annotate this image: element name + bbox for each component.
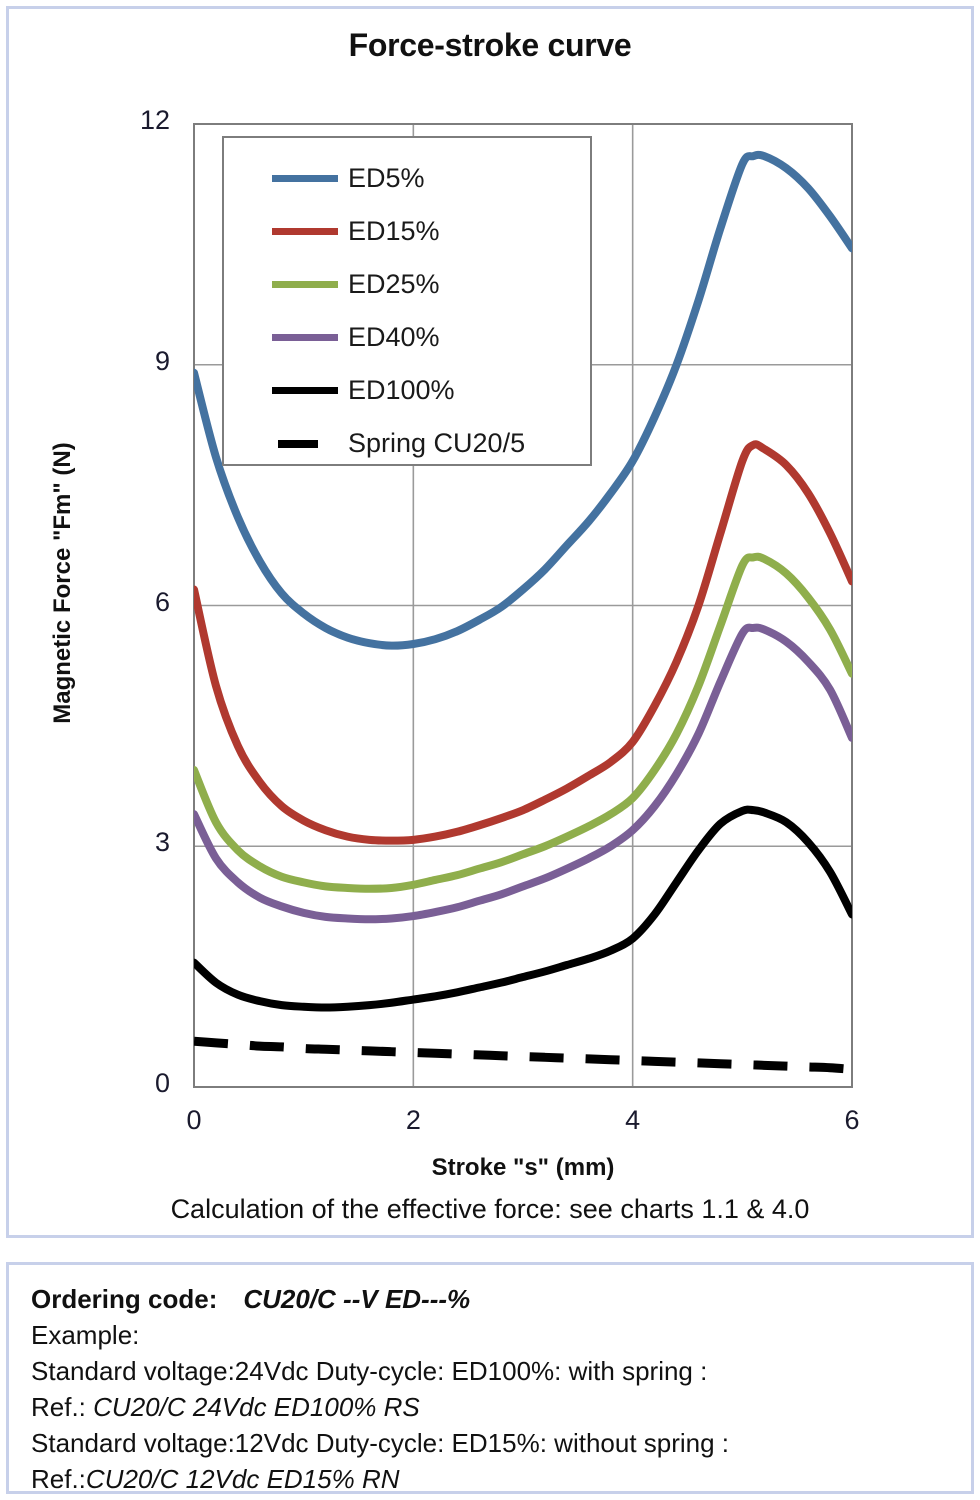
legend-color-swatch-icon <box>272 334 338 341</box>
ordering-code-label: Ordering code: <box>31 1284 217 1314</box>
legend-item-label: ED5% <box>348 163 425 194</box>
ref-2-label: Ref.: <box>31 1464 86 1494</box>
legend-color-swatch-icon <box>272 440 338 448</box>
legend-item[interactable]: ED100% <box>224 364 590 417</box>
chart-footnote: Calculation of the effective force: see … <box>9 1194 971 1225</box>
legend-item-label: Spring CU20/5 <box>348 428 525 459</box>
example-ref-1: Ref.: CU20/C 24Vdc ED100% RS <box>31 1389 949 1425</box>
legend-item-label: ED25% <box>348 269 440 300</box>
x-tick-label: 0 <box>164 1105 224 1136</box>
ref-1-value: CU20/C 24Vdc ED100% RS <box>93 1392 420 1422</box>
x-tick-label: 6 <box>822 1105 882 1136</box>
example-line-2: Standard voltage:12Vdc Duty-cycle: ED15%… <box>31 1425 949 1461</box>
legend-item[interactable]: ED5% <box>224 152 590 205</box>
ref-1-label: Ref.: <box>31 1392 86 1422</box>
legend-color-swatch-icon <box>272 228 338 235</box>
ordering-code-panel: Ordering code:CU20/C --V ED---% Example:… <box>6 1262 974 1494</box>
example-ref-2: Ref.:CU20/C 12Vdc ED15% RN <box>31 1461 949 1497</box>
x-axis-title: Stroke "s" (mm) <box>194 1154 852 1182</box>
y-tick-label: 0 <box>110 1068 170 1099</box>
legend-color-swatch-icon <box>272 281 338 288</box>
y-tick-label: 9 <box>110 346 170 377</box>
legend-item[interactable]: Spring CU20/5 <box>224 417 590 470</box>
legend-item-label: ED100% <box>348 375 455 406</box>
x-tick-label: 2 <box>383 1105 443 1136</box>
chart-legend: ED5%ED15%ED25%ED40%ED100%Spring CU20/5 <box>222 136 592 466</box>
y-axis-title: Magnetic Force "Fm" (N) <box>49 423 77 743</box>
legend-item[interactable]: ED15% <box>224 205 590 258</box>
legend-color-swatch-icon <box>272 387 338 394</box>
legend-item-label: ED40% <box>348 322 440 353</box>
y-tick-label: 6 <box>110 587 170 618</box>
legend-item[interactable]: ED25% <box>224 258 590 311</box>
ordering-code-value: CU20/C --V ED---% <box>243 1284 470 1314</box>
force-stroke-chart-panel: Force-stroke curve Magnetic Force "Fm" (… <box>6 6 974 1238</box>
ref-2-value: CU20/C 12Vdc ED15% RN <box>86 1464 400 1494</box>
y-tick-label: 12 <box>110 105 170 136</box>
legend-color-swatch-icon <box>272 175 338 182</box>
ordering-code-line: Ordering code:CU20/C --V ED---% <box>31 1281 949 1317</box>
x-tick-label: 4 <box>603 1105 663 1136</box>
example-label: Example: <box>31 1317 949 1353</box>
legend-item-label: ED15% <box>348 216 440 247</box>
y-tick-label: 3 <box>110 827 170 858</box>
legend-item[interactable]: ED40% <box>224 311 590 364</box>
example-line-1: Standard voltage:24Vdc Duty-cycle: ED100… <box>31 1353 949 1389</box>
